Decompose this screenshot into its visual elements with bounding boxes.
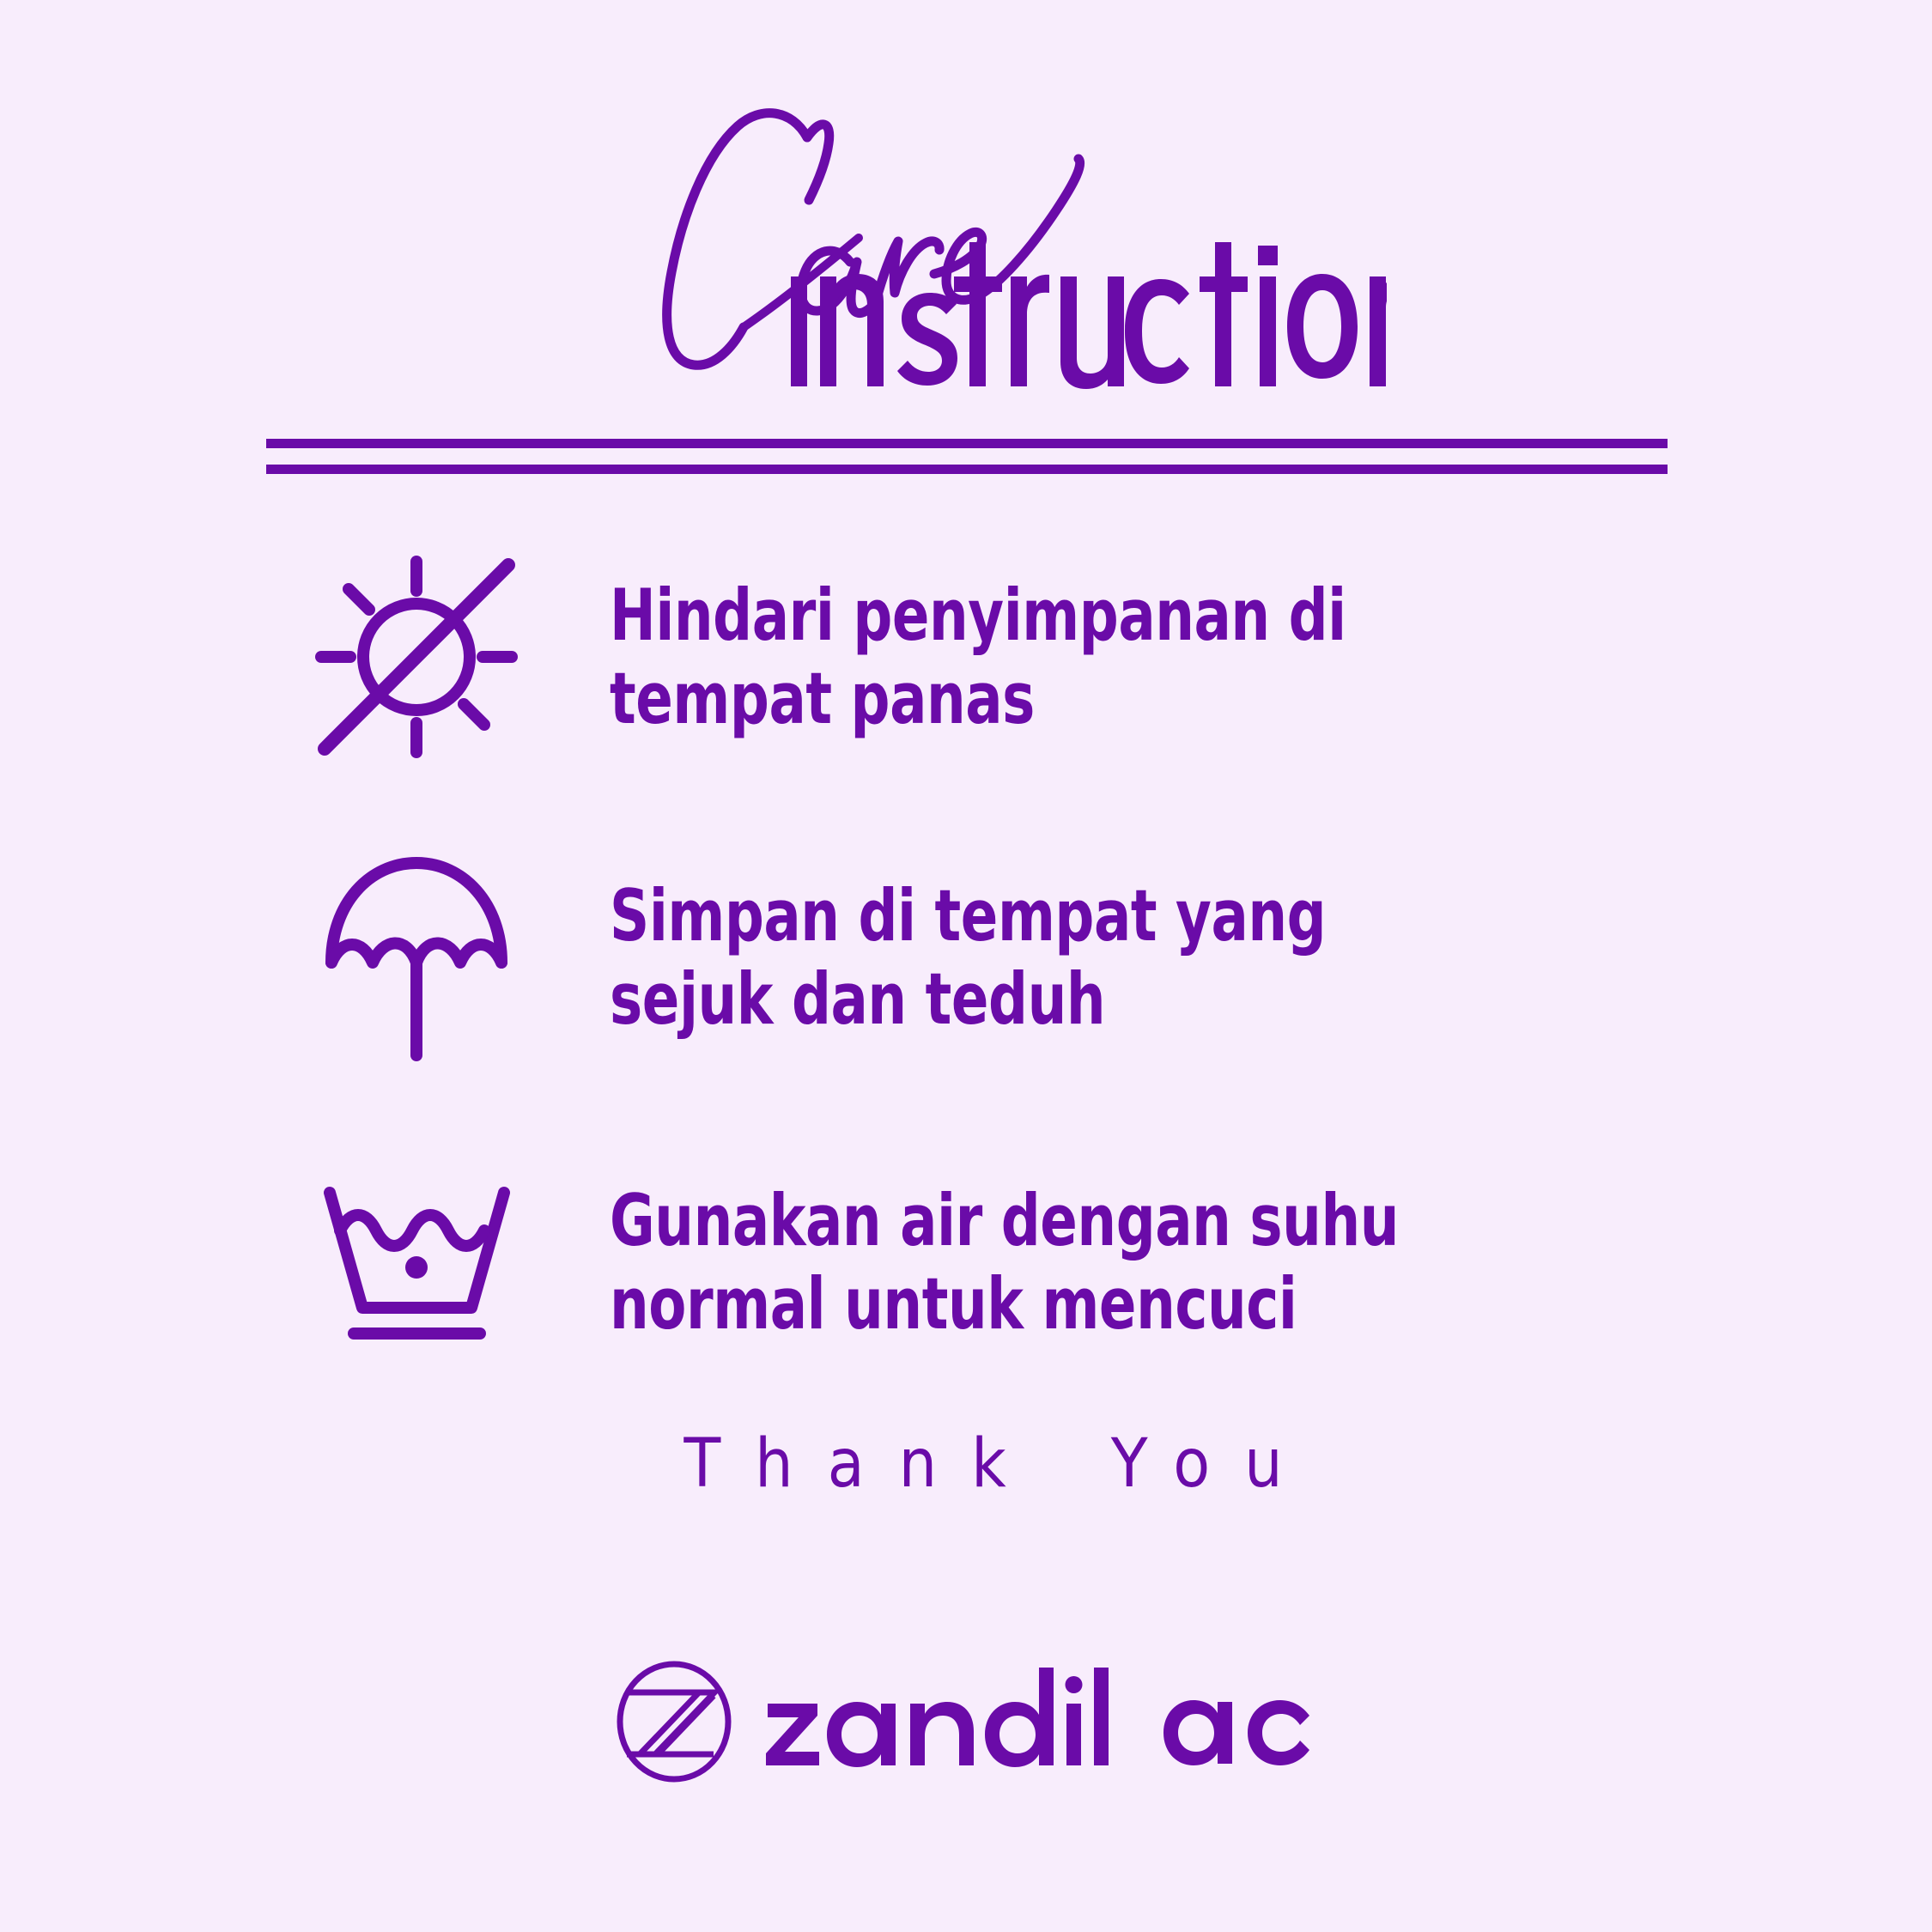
list-item: Hindari penyimpanan di tempat panas [283,532,1760,781]
page-title-block [786,240,1387,395]
list-item-label: Gunakan air dengan suhu normal untuk men… [610,1179,1599,1346]
divider [266,434,1668,478]
brand-wordmark-tail [1159,1664,1322,1780]
divider-rule-bottom [266,465,1668,474]
list-item: Simpan di tempat yang sejuk dan teduh [283,829,1760,1086]
header [0,0,1932,429]
zandilac-wordmark-tail-artwork [1159,1664,1322,1776]
no-sun-icon [283,532,550,781]
thank-you-word-1: Thank [649,1425,1040,1503]
circled-z-monogram-artwork [610,1657,738,1786]
list-item-label: Simpan di tempat yang sejuk dan teduh [610,874,1599,1041]
instruction-list: Hindari penyimpanan di tempat panas Simp… [0,532,1932,1361]
list-item: Gunakan air dengan suhu normal untuk men… [283,1163,1760,1361]
no-sun-icon-artwork [309,550,524,764]
instruction-wordmark-artwork [786,240,1387,395]
thank-you-word-2: You [1077,1425,1317,1503]
zandilac-wordmark-artwork [764,1666,1133,1777]
umbrella-icon-artwork [318,846,515,1069]
umbrella-icon [283,829,550,1086]
list-item-label: Hindari penyimpanan di tempat panas [610,574,1599,740]
wash-tub-icon [283,1163,550,1361]
wash-dot-icon [405,1256,428,1279]
brand-wordmark [764,1666,1133,1777]
care-instruction-card: Hindari penyimpanan di tempat panas Simp… [0,0,1932,1932]
brand-logo [0,1631,1932,1812]
thank-you-text: ThankYou [0,1425,1932,1503]
wash-tub-icon-artwork [316,1179,518,1346]
divider-rule-top [266,439,1668,448]
circled-z-monogram-icon [610,1657,738,1786]
